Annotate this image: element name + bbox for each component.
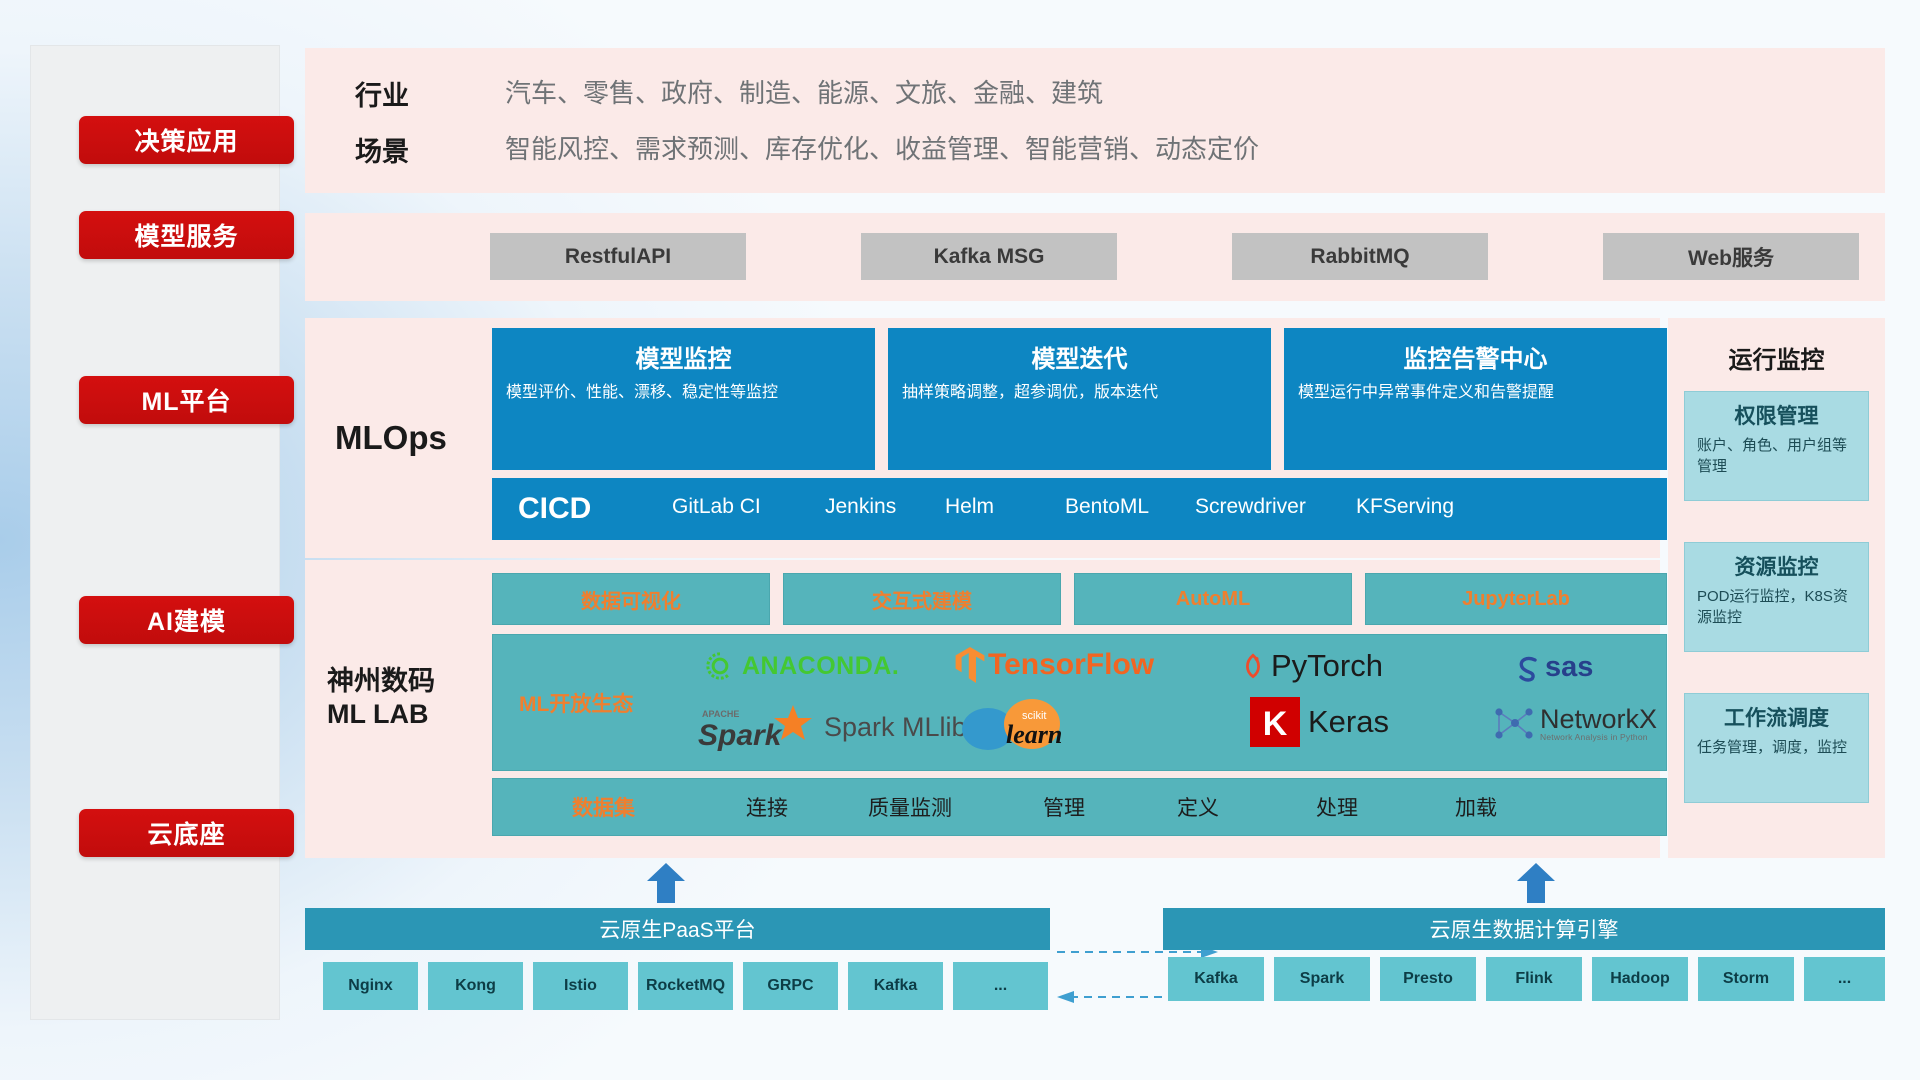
svg-text:APACHE: APACHE <box>702 709 739 719</box>
service-box-restfulapi[interactable]: RestfulAPI <box>490 233 746 280</box>
monitor-column: 运行监控 权限管理 账户、角色、用户组等管理 资源监控 POD运行监控，K8S资… <box>1668 318 1885 858</box>
mlops-card-title: 模型监控 <box>506 339 861 374</box>
cicd-item-helm[interactable]: Helm <box>945 494 1041 520</box>
data-engine-bar: 云原生数据计算引擎 <box>1163 908 1885 950</box>
mlops-card-desc: 抽样策略调整，超参调优，版本迭代 <box>902 382 1257 405</box>
networkx-tagline: Network Analysis in Python <box>1540 733 1657 742</box>
cicd-item-jenkins[interactable]: Jenkins <box>825 494 921 520</box>
mlops-card-model-monitoring[interactable]: 模型监控 模型评价、性能、漂移、稳定性等监控 <box>492 328 875 470</box>
mlops-card-desc: 模型运行中异常事件定义和告警提醒 <box>1298 382 1653 405</box>
service-box-rabbitmq[interactable]: RabbitMQ <box>1232 233 1488 280</box>
mlops-card-desc: 模型评价、性能、漂移、稳定性等监控 <box>506 382 861 405</box>
svg-text:K: K <box>1263 705 1288 743</box>
monitor-card-workflow[interactable]: 工作流调度 任务管理，调度，监控 <box>1684 693 1869 803</box>
dataset-item-manage[interactable]: 管理 <box>1043 792 1085 822</box>
spark-icon: APACHE Spark <box>698 701 818 753</box>
mllab-panel: 神州数码 ML LAB 数据可视化 交互式建模 AutoML JupyterLa… <box>305 560 1660 858</box>
service-box-kafka-msg[interactable]: Kafka MSG <box>861 233 1117 280</box>
keras-logo: K Keras <box>1250 697 1389 747</box>
paas-chip-kafka[interactable]: Kafka <box>848 962 943 1010</box>
mlops-card-model-iteration[interactable]: 模型迭代 抽样策略调整，超参调优，版本迭代 <box>888 328 1271 470</box>
paas-chip-istio[interactable]: Istio <box>533 962 628 1010</box>
ai-service-panel: AI服务 RestfulAPI Kafka MSG RabbitMQ Web服务 <box>305 213 1885 301</box>
rail-item-decision[interactable]: 决策应用 <box>79 116 294 164</box>
rail-item-ml-platform[interactable]: ML平台 <box>79 376 294 424</box>
decision-row-value-scenario: 智能风控、需求预测、库存优化、收益管理、智能营销、动态定价 <box>505 129 1259 166</box>
engine-chip-presto[interactable]: Presto <box>1380 957 1476 1001</box>
svg-text:learn: learn <box>1006 720 1062 749</box>
networkx-logo: NetworkX Network Analysis in Python <box>1491 703 1657 745</box>
cicd-bar: CICD GitLab CI Jenkins Helm BentoML Scre… <box>492 478 1667 540</box>
scikit-learn-icon: scikit learn <box>958 697 1098 755</box>
monitor-card-desc: 任务管理，调度，监控 <box>1697 738 1856 759</box>
anaconda-wordmark: ANACONDA. <box>742 652 899 681</box>
sas-logo: sas <box>1513 651 1593 684</box>
pytorch-logo: PyTorch <box>1240 648 1383 684</box>
dataset-label: 数据集 <box>572 792 635 822</box>
cicd-title: CICD <box>518 492 591 526</box>
dataset-item-process[interactable]: 处理 <box>1316 792 1358 822</box>
anaconda-logo: ANACONDA. <box>705 651 899 681</box>
service-box-web-service[interactable]: Web服务 <box>1603 233 1859 280</box>
monitor-card-permission[interactable]: 权限管理 账户、角色、用户组等管理 <box>1684 391 1869 501</box>
mlops-label: MLOps <box>335 413 475 463</box>
monitor-card-title: 权限管理 <box>1697 400 1856 430</box>
networkx-wordmark: NetworkX <box>1540 706 1657 733</box>
mllab-label-line2: ML LAB <box>327 698 429 731</box>
engine-chip-flink[interactable]: Flink <box>1486 957 1582 1001</box>
left-rail: 决策应用 模型服务 ML平台 AI建模 云底座 <box>30 45 280 1020</box>
paas-chip-rocketmq[interactable]: RocketMQ <box>638 962 733 1010</box>
mlops-card-title: 模型迭代 <box>902 339 1257 374</box>
monitor-card-desc: 账户、角色、用户组等管理 <box>1697 436 1856 477</box>
paas-platform-bar: 云原生PaaS平台 <box>305 908 1050 950</box>
dataset-item-define[interactable]: 定义 <box>1177 792 1219 822</box>
engine-chip-more[interactable]: ... <box>1804 957 1885 1001</box>
arrow-up-paas <box>643 863 689 903</box>
mllab-tool-data-viz[interactable]: 数据可视化 <box>492 573 770 625</box>
tensorflow-wordmark: TensorFlow <box>988 648 1154 682</box>
rail-item-model-service[interactable]: 模型服务 <box>79 211 294 259</box>
paas-chip-grpc[interactable]: GRPC <box>743 962 838 1010</box>
sas-wordmark: sas <box>1545 651 1593 684</box>
mlops-card-title: 监控告警中心 <box>1298 339 1653 374</box>
decision-row-label-industry: 行业 <box>355 74 475 118</box>
engine-chip-spark[interactable]: Spark <box>1274 957 1370 1001</box>
dataset-item-connect[interactable]: 连接 <box>746 792 788 822</box>
anaconda-icon <box>705 651 735 681</box>
dataset-item-load[interactable]: 加载 <box>1455 792 1497 822</box>
mlops-panel: MLOps 模型监控 模型评价、性能、漂移、稳定性等监控 模型迭代 抽样策略调整… <box>305 318 1660 558</box>
scikit-learn-logo: scikit learn <box>958 697 1098 755</box>
mllib-wordmark: Spark MLlib <box>824 712 967 743</box>
ml-ecosystem-band: ML开放生态 ANACONDA. TensorFlow <box>492 634 1667 771</box>
keras-wordmark: Keras <box>1308 704 1389 740</box>
pytorch-wordmark: PyTorch <box>1271 648 1383 684</box>
spark-mllib-logo: APACHE Spark Spark MLlib <box>698 701 967 753</box>
rail-item-ai-modeling[interactable]: AI建模 <box>79 596 294 644</box>
decision-panel: 行业 汽车、零售、政府、制造、能源、文旅、金融、建筑 场景 智能风控、需求预测、… <box>305 48 1885 193</box>
tensorflow-logo: TensorFlow <box>955 647 1154 683</box>
mllab-label-line1: 神州数码 <box>327 665 435 698</box>
decision-row-label-scenario: 场景 <box>355 130 475 174</box>
engine-chip-kafka[interactable]: Kafka <box>1168 957 1264 1001</box>
monitor-card-desc: POD运行监控，K8S资源监控 <box>1697 587 1856 628</box>
mllab-label: 神州数码 ML LAB <box>327 665 497 731</box>
arrow-up-data-engine <box>1513 863 1559 903</box>
cicd-item-screwdriver[interactable]: Screwdriver <box>1195 494 1291 520</box>
dataset-row: 数据集 连接 质量监测 管理 定义 处理 加载 <box>492 778 1667 836</box>
mllab-tool-interactive[interactable]: 交互式建模 <box>783 573 1061 625</box>
sas-icon <box>1513 653 1543 683</box>
keras-icon: K <box>1250 697 1300 747</box>
architecture-diagram: 决策应用 模型服务 ML平台 AI建模 云底座 行业 汽车、零售、政府、制造、能… <box>0 0 1920 1080</box>
engine-chip-hadoop[interactable]: Hadoop <box>1592 957 1688 1001</box>
svg-text:Spark: Spark <box>698 719 783 752</box>
monitor-card-resource[interactable]: 资源监控 POD运行监控，K8S资源监控 <box>1684 542 1869 652</box>
pytorch-icon <box>1240 650 1266 682</box>
monitor-title: 运行监控 <box>1668 340 1885 375</box>
dataset-item-quality[interactable]: 质量监测 <box>868 792 952 822</box>
cicd-item-kfserving[interactable]: KFServing <box>1356 494 1452 520</box>
cicd-item-gitlab-ci[interactable]: GitLab CI <box>672 494 768 520</box>
ml-ecosystem-label: ML开放生态 <box>519 688 633 718</box>
monitor-card-title: 资源监控 <box>1697 551 1856 581</box>
paas-chip-nginx[interactable]: Nginx <box>323 962 418 1010</box>
decision-row-value-industry: 汽车、零售、政府、制造、能源、文旅、金融、建筑 <box>505 73 1103 110</box>
paas-chip-kong[interactable]: Kong <box>428 962 523 1010</box>
paas-chip-more[interactable]: ... <box>953 962 1048 1010</box>
tensorflow-icon <box>955 647 985 683</box>
rail-item-cloud-base[interactable]: 云底座 <box>79 809 294 857</box>
mlops-card-alert-center[interactable]: 监控告警中心 模型运行中异常事件定义和告警提醒 <box>1284 328 1667 470</box>
cicd-item-bentoml[interactable]: BentoML <box>1065 494 1161 520</box>
mllab-tool-jupyterlab[interactable]: JupyterLab <box>1365 573 1667 625</box>
networkx-icon <box>1491 703 1535 745</box>
monitor-card-title: 工作流调度 <box>1697 702 1856 732</box>
engine-chip-storm[interactable]: Storm <box>1698 957 1794 1001</box>
mllab-tool-automl[interactable]: AutoML <box>1074 573 1352 625</box>
